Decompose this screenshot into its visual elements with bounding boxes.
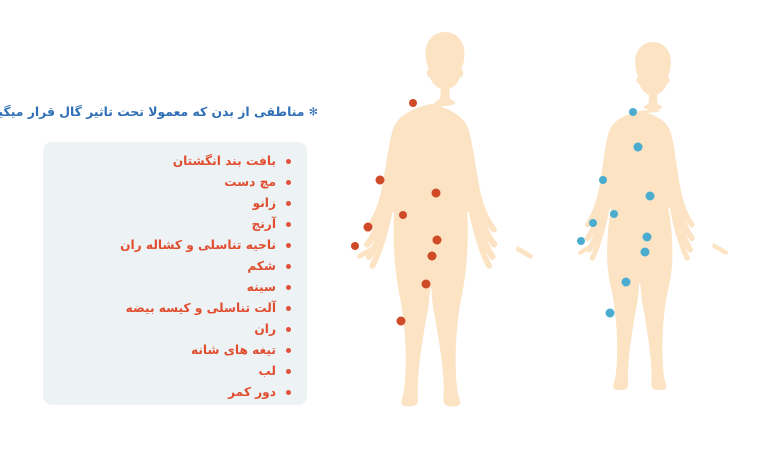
body-marker-shoulder [409, 99, 417, 107]
body-marker-wrist [364, 223, 373, 232]
body-marker-waist [610, 210, 618, 218]
list-item: آلت تناسلی و کیسه بیضه [53, 298, 291, 319]
list-item: زانو [53, 193, 291, 214]
list-item: سینه [53, 277, 291, 298]
bullet-icon [286, 159, 291, 164]
bullet-icon [286, 243, 291, 248]
bullet-icon [286, 222, 291, 227]
list-item-label: بافت بند انگشتان [173, 151, 276, 172]
list-item-label: شکم [247, 256, 276, 277]
page-title: ✻ مناطقی از بدن که معمولا تحت تاثیر گال … [12, 103, 318, 122]
bullet-icon [286, 201, 291, 206]
body-marker-chest [432, 189, 441, 198]
body-marker-groin [433, 236, 442, 245]
body-marker-abdomen [646, 192, 655, 201]
list-item-label: ناحیه تناسلی و کشاله ران [120, 235, 276, 256]
body-marker-hand [577, 237, 585, 245]
male-silhouette-icon [340, 0, 550, 461]
list-item: ناحیه تناسلی و کشاله ران [53, 235, 291, 256]
body-marker-knee [606, 309, 615, 318]
male-body-diagram [340, 0, 550, 461]
list-item-label: مچ دست [224, 172, 276, 193]
body-marker-shoulder [629, 108, 637, 116]
body-marker-thigh [422, 280, 431, 289]
body-marker-hand [351, 242, 359, 250]
body-marker-chest [634, 143, 643, 152]
list-item-label: زانو [253, 193, 276, 214]
list-item: لب [53, 361, 291, 382]
list-item-label: دور کمر [228, 382, 276, 403]
list-item-label: سینه [247, 277, 276, 298]
female-silhouette-icon [548, 0, 758, 461]
list-item: آرنج [53, 214, 291, 235]
bullet-icon [286, 180, 291, 185]
affected-areas-list: بافت بند انگشتانمچ دستزانوآرنجناحیه تناس… [53, 151, 291, 403]
list-item: ران [53, 319, 291, 340]
body-figures [330, 0, 768, 461]
body-marker-wrist [589, 219, 597, 227]
bullet-icon [286, 327, 291, 332]
bullet-icon [286, 348, 291, 353]
bullet-icon [286, 369, 291, 374]
bullet-icon [286, 264, 291, 269]
asterisk-icon: ✻ [309, 106, 318, 119]
list-item-label: لب [259, 361, 276, 382]
page-root: ✻ مناطقی از بدن که معمولا تحت تاثیر گال … [0, 0, 768, 461]
list-item-label: آلت تناسلی و کیسه بیضه [126, 298, 276, 319]
list-item: تیغه های شانه [53, 340, 291, 361]
body-marker-thigh [622, 278, 631, 287]
body-marker-genital [641, 248, 650, 257]
page-title-text: مناطقی از بدن که معمولا تحت تاثیر گال قر… [0, 104, 304, 119]
body-marker-knee [397, 317, 406, 326]
body-marker-waist [399, 211, 407, 219]
list-item: بافت بند انگشتان [53, 151, 291, 172]
list-item-label: آرنج [251, 214, 276, 235]
bullet-icon [286, 390, 291, 395]
bullet-icon [286, 306, 291, 311]
affected-areas-card: بافت بند انگشتانمچ دستزانوآرنجناحیه تناس… [43, 142, 307, 405]
list-item-label: تیغه های شانه [191, 340, 276, 361]
body-marker-elbow [599, 176, 607, 184]
body-marker-groin [643, 233, 652, 242]
list-item: دور کمر [53, 382, 291, 403]
list-item: شکم [53, 256, 291, 277]
body-marker-genital [428, 252, 437, 261]
affected-areas-panel: ✻ مناطقی از بدن که معمولا تحت تاثیر گال … [0, 0, 330, 461]
female-body-diagram [548, 0, 758, 461]
body-marker-elbow [376, 176, 385, 185]
list-item-label: ران [254, 319, 276, 340]
list-item: مچ دست [53, 172, 291, 193]
bullet-icon [286, 285, 291, 290]
